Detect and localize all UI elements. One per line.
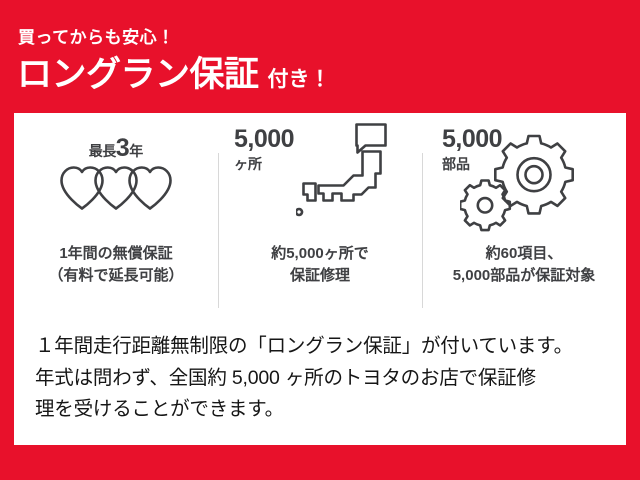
service-locations-caption-line2: 保証修理: [271, 265, 369, 287]
body-copy-line2: 年式は問わず、全国約 5,000 ヶ所のトヨタのお店で保証修: [35, 363, 613, 395]
feature-columns: 最長3年 1年間の無償保証 （有料で延長可能）: [14, 113, 626, 318]
warranty-term-prefix: 最長: [89, 143, 116, 159]
service-locations-unit: ヶ所: [234, 157, 294, 171]
header-kicker: 買ってからも安心！: [18, 23, 175, 48]
warranty-term-caption-line1: 1年間の無償保証: [48, 243, 183, 265]
content-panel: 最長3年 1年間の無償保証 （有料で延長可能）: [14, 113, 626, 445]
longrun-warranty-banner: 買ってからも安心！ ロングラン保証 付き！ 最長3年: [0, 0, 640, 480]
covered-parts-caption-line2: 5,000部品が保証対象: [453, 265, 596, 287]
feature-visual-warranty-term: 最長3年: [14, 113, 218, 243]
feature-visual-service-locations: 5,000 ヶ所: [218, 113, 422, 243]
feature-warranty-term: 最長3年 1年間の無償保証 （有料で延長可能）: [14, 113, 218, 318]
service-locations-value: 5,000: [234, 127, 294, 152]
feature-visual-covered-parts: 5,000 部品: [422, 113, 626, 243]
body-copy-line3: 理を受けることができます。: [35, 394, 613, 426]
service-locations-figure: 5,000 ヶ所: [234, 127, 294, 171]
feature-caption-warranty-term: 1年間の無償保証 （有料で延長可能）: [48, 243, 183, 287]
header-title-suffix: 付き！: [268, 69, 331, 90]
japan-map-icon: [296, 121, 392, 230]
warranty-term-caption-line2: （有料で延長可能）: [48, 265, 183, 287]
body-copy: １年間走行距離無制限の「ロングラン保証」が付いています。 年式は問わず、全国約 …: [35, 331, 613, 426]
feature-covered-parts: 5,000 部品: [422, 113, 626, 318]
covered-parts-caption-line1: 約60項目、: [453, 243, 596, 265]
gears-icon: [460, 131, 580, 244]
banner-header: 買ってからも安心！ ロングラン保証 付き！: [0, 0, 640, 113]
feature-caption-covered-parts: 約60項目、 5,000部品が保証対象: [453, 243, 596, 287]
three-hearts-icon: [58, 163, 174, 218]
warranty-term-unit: 年: [129, 143, 143, 159]
feature-service-locations: 5,000 ヶ所: [218, 113, 422, 318]
warranty-term-figure: 最長3年: [14, 136, 218, 161]
feature-caption-service-locations: 約5,000ヶ所で 保証修理: [271, 243, 369, 287]
header-title-main: ロングラン保証: [17, 57, 259, 92]
warranty-term-value: 3: [116, 134, 129, 162]
body-copy-line1: １年間走行距離無制限の「ロングラン保証」が付いています。: [35, 331, 613, 363]
service-locations-caption-line1: 約5,000ヶ所で: [271, 243, 369, 265]
header-title: ロングラン保証 付き！: [17, 57, 331, 92]
